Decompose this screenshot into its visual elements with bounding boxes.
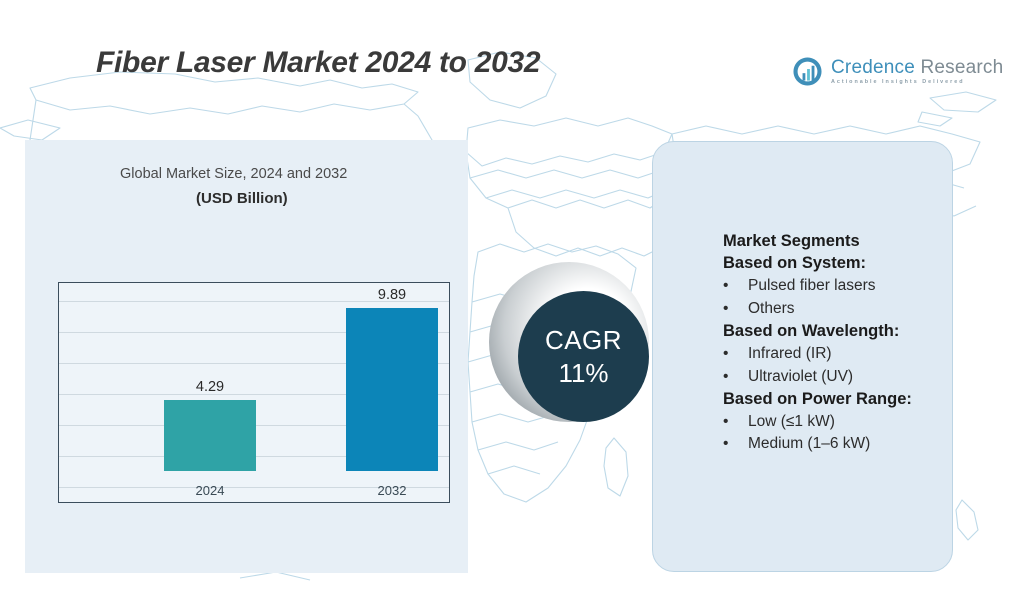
logo-name-part1: Credence [831,57,915,78]
segment-item-label: Medium (1–6 kW) [748,433,870,456]
bullet-icon: • [723,433,748,456]
page-title: Fiber Laser Market 2024 to 2032 [96,46,540,80]
chart-bar-value-label: 9.89 [346,287,438,303]
chart-bar [164,400,256,471]
chart-bar-value-label: 4.29 [164,379,256,395]
cagr-badge: CAGR 11% [518,291,649,422]
segment-item-label: Pulsed fiber lasers [748,275,876,298]
bullet-icon: • [723,366,748,389]
segment-list-item: •Others [723,298,948,321]
segment-list-item: •Pulsed fiber lasers [723,275,948,298]
chart-caption-line1: Global Market Size, 2024 and 2032 [120,166,347,182]
bullet-icon: • [723,343,748,366]
segment-list-item: •Low (≤1 kW) [723,411,948,434]
bullet-icon: • [723,411,748,434]
logo-tagline: Actionable Insights Delivered [831,80,1003,85]
segment-list-item: •Medium (1–6 kW) [723,433,948,456]
chart-category-label: 2032 [346,483,438,498]
segment-group-heading: Based on Power Range: [723,389,948,411]
segment-item-label: Low (≤1 kW) [748,411,835,434]
infographic-canvas: Fiber Laser Market 2024 to 2032 Credence… [0,0,1020,601]
segment-group-heading: Based on Wavelength: [723,321,948,343]
market-segments-list: Market Segments Based on System:•Pulsed … [723,231,948,456]
brand-logo: Credence Research Actionable Insights De… [791,55,1003,88]
segment-list-item: •Infrared (IR) [723,343,948,366]
bullet-icon: • [723,298,748,321]
segment-group-heading: Based on System: [723,253,948,275]
segments-groups: Based on System:•Pulsed fiber lasers•Oth… [723,253,948,456]
segment-item-label: Others [748,298,795,321]
chart-category-label: 2024 [164,483,256,498]
chart-bar [346,308,438,471]
segment-list-item: •Ultraviolet (UV) [723,366,948,389]
bar-chart: 4.2920249.892032 [58,282,450,503]
segment-item-label: Infrared (IR) [748,343,832,366]
chart-caption-line2: (USD Billion) [196,190,288,207]
bar-chart-circle-icon [791,55,824,88]
segment-item-label: Ultraviolet (UV) [748,366,853,389]
segments-title: Market Segments [723,231,948,253]
cagr-label: CAGR [545,325,622,356]
cagr-value: 11% [558,358,608,389]
logo-name-part2: Research [920,57,1003,78]
bullet-icon: • [723,275,748,298]
